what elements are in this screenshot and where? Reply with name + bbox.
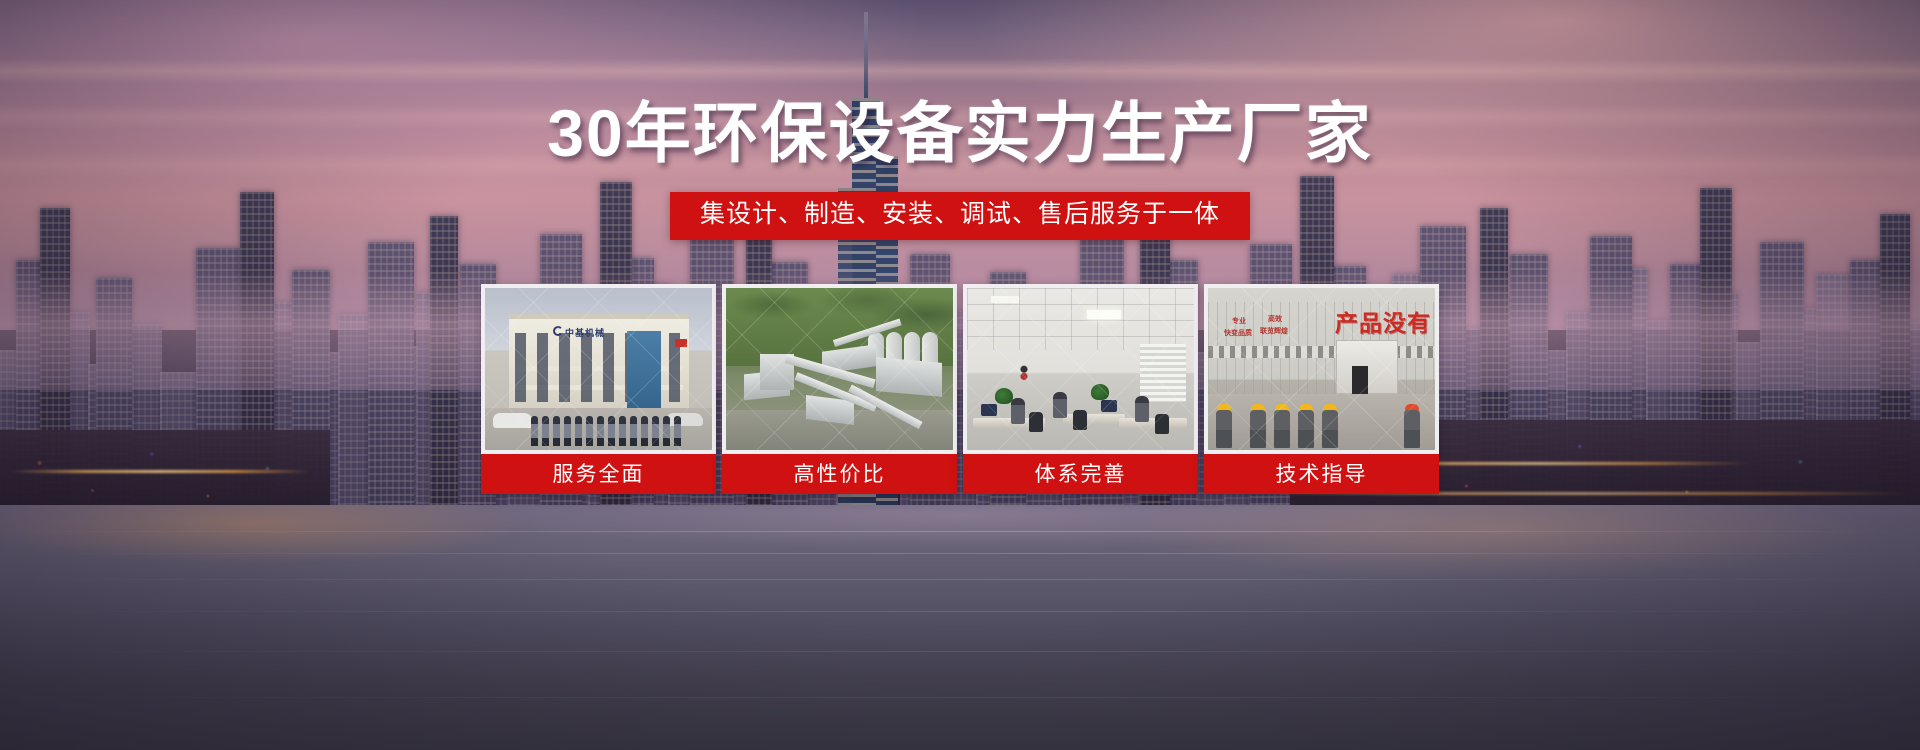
wall-decal-icon: [1011, 362, 1037, 386]
card-caption-bar: 高性价比: [722, 454, 957, 494]
card-caption-bar: 服务全面: [481, 454, 716, 494]
company-logo-icon: [553, 326, 563, 336]
flag-icon: [675, 339, 687, 347]
card-caption-bar: 技术指导: [1204, 454, 1439, 494]
card-caption-text: 技术指导: [1276, 464, 1368, 485]
workshop-slogan-4: 联览辉煌: [1260, 328, 1288, 336]
workshop-slogan-1: 专业: [1232, 318, 1246, 326]
card-image-office-building: 中基机械: [485, 288, 712, 450]
feature-card[interactable]: 高性价比: [722, 284, 957, 494]
card-caption-text: 体系完善: [1035, 464, 1127, 485]
building-sign-text: 中基机械: [565, 326, 605, 339]
card-image-office-interior: [967, 288, 1194, 450]
banner-headline: 30年环保设备实力生产厂家: [0, 100, 1920, 166]
card-image-workshop: 产品没有 专业 快变品质 高效 联览辉煌: [1208, 288, 1435, 450]
window-blinds: [1140, 344, 1186, 402]
workshop-slogan-2: 快变品质: [1224, 330, 1252, 338]
hero-banner: 30年环保设备实力生产厂家 集设计、制造、安装、调试、售后服务于一体 中基机械: [0, 0, 1920, 750]
workshop-banner-text: 产品没有: [1335, 304, 1431, 338]
banner-subtitle: 集设计、制造、安装、调试、售后服务于一体: [700, 201, 1220, 229]
workshop-slogan-3: 高效: [1268, 316, 1282, 324]
card-caption-bar: 体系完善: [963, 454, 1198, 494]
banner-content: 30年环保设备实力生产厂家 集设计、制造、安装、调试、售后服务于一体 中基机械: [0, 0, 1920, 750]
feature-card[interactable]: 体系完善: [963, 284, 1198, 494]
card-image-plant-aerial: [726, 288, 953, 450]
card-caption-text: 服务全面: [553, 464, 645, 485]
feature-card[interactable]: 产品没有 专业 快变品质 高效 联览辉煌: [1204, 284, 1439, 494]
banner-subtitle-bar: 集设计、制造、安装、调试、售后服务于一体: [670, 192, 1250, 240]
feature-card-row: 中基机械 服务全面: [481, 284, 1439, 494]
card-caption-text: 高性价比: [794, 464, 886, 485]
feature-card[interactable]: 中基机械 服务全面: [481, 284, 716, 494]
